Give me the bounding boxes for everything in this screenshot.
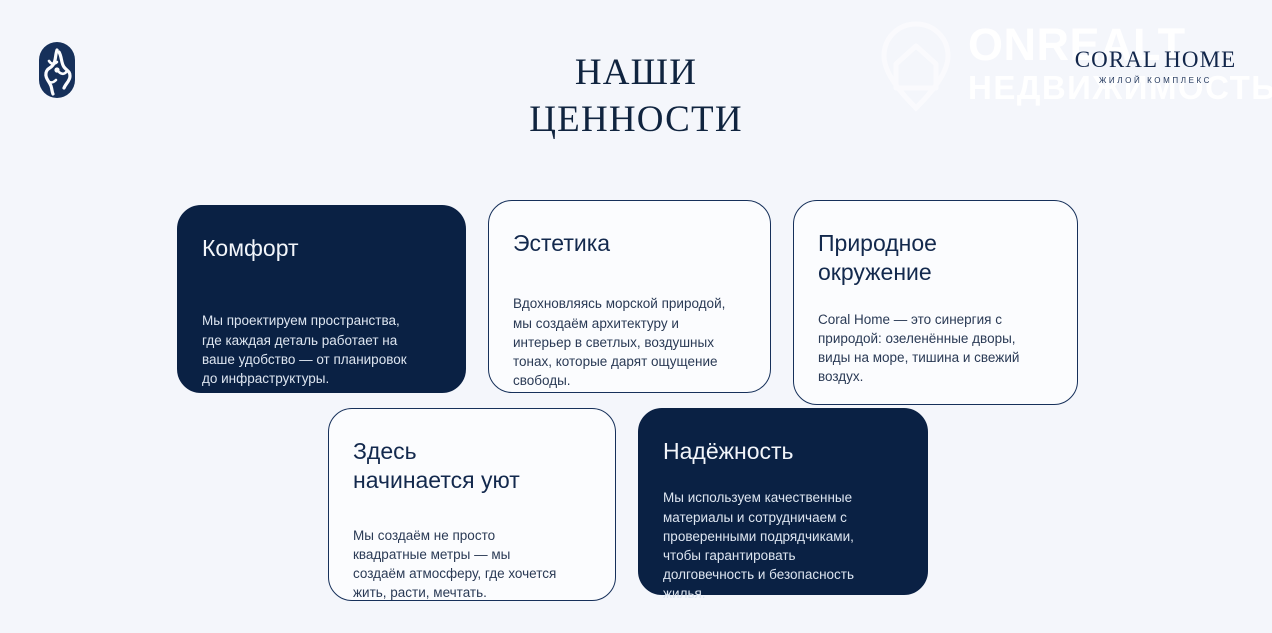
map-pin-house-icon [868, 18, 964, 114]
value-card-zdes-nachinaetsya-uyut[interactable]: Здесь начинается уют Мы создаём не прост… [328, 408, 616, 601]
logotype-subtitle: ЖИЛОЙ КОМПЛЕКС [1068, 77, 1243, 85]
value-card-komfort[interactable]: Комфорт Мы проектируем пространства, где… [177, 205, 466, 393]
coral-home-logotype: CORAL HOME ЖИЛОЙ КОМПЛЕКС [1068, 48, 1243, 85]
value-card-title: Здесь начинается уют [353, 437, 591, 496]
logotype-name: CORAL HOME [1068, 48, 1243, 72]
value-card-body: Вдохновляясь морской природой, мы создаё… [513, 294, 746, 390]
value-card-nadezhnost[interactable]: Надёжность Мы используем качественные ма… [638, 408, 928, 595]
coral-emblem-icon [31, 40, 83, 100]
brand-emblem [31, 40, 83, 100]
value-card-estetika[interactable]: Эстетика Вдохновляясь морской природой, … [488, 200, 771, 393]
value-card-title: Надёжность [663, 437, 903, 466]
slide-canvas: НАШИ ЦЕННОСТИ ONREALT НЕДВИЖИМОСТЬ CORAL… [0, 0, 1272, 633]
value-card-body: Coral Home — это синергия с природой: оз… [818, 310, 1053, 387]
value-card-body: Мы проектируем пространства, где каждая … [202, 311, 441, 388]
value-card-title: Эстетика [513, 229, 746, 258]
value-card-body: Мы создаём не просто квадратные метры — … [353, 526, 591, 603]
value-card-prirodnoe-okruzhenie[interactable]: Природное окружение Coral Home — это син… [793, 200, 1078, 405]
value-card-body: Мы используем качественные материалы и с… [663, 488, 903, 603]
value-card-title: Комфорт [202, 234, 441, 263]
value-card-title: Природное окружение [818, 229, 1053, 288]
